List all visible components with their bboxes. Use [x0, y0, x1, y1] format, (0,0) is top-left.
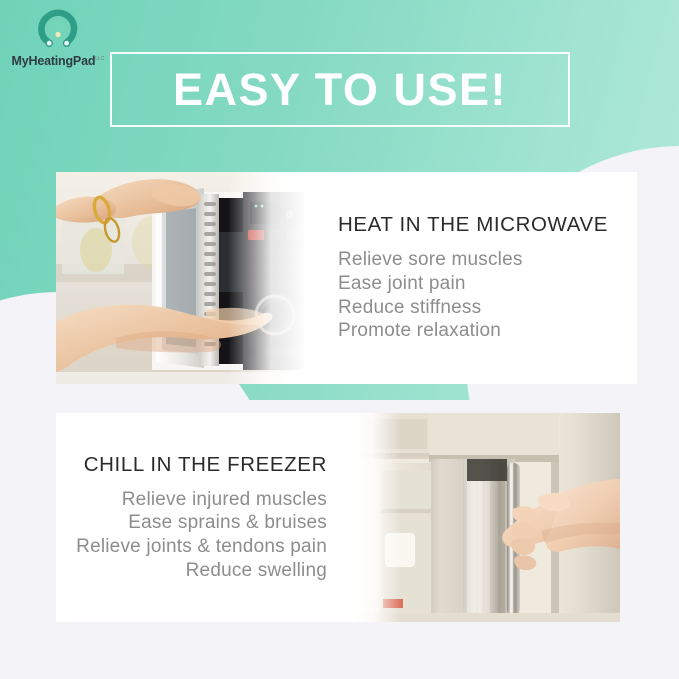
benefit-item: Relieve sore muscles [338, 248, 523, 272]
benefit-item: Promote relaxation [338, 319, 523, 343]
product-infographic: MyHeatingPadLLC EASY TO USE! [0, 0, 679, 679]
benefit-card-heat-title: HEAT IN THE MICROWAVE [338, 213, 608, 237]
benefit-item: Relieve joints & tendons pain [76, 535, 327, 559]
brand-logo: MyHeatingPadLLC [10, 8, 106, 72]
benefit-item: Reduce stiffness [338, 296, 523, 320]
benefit-item: Reduce swelling [76, 559, 327, 583]
page-title: EASY TO USE! [173, 67, 507, 112]
benefit-card-chill: CHILL IN THE FREEZER Relieve injured mus… [56, 413, 620, 622]
headline-banner: EASY TO USE! [110, 52, 570, 127]
microwave-photo: 0 [56, 172, 306, 384]
horseshoe-ring-logo-icon [36, 8, 80, 52]
brand-trademark: LLC [95, 56, 104, 62]
svg-text:0: 0 [286, 210, 293, 222]
benefit-item: Ease sprains & bruises [76, 511, 327, 535]
benefit-card-heat: 0 [56, 172, 637, 384]
benefit-card-heat-body: HEAT IN THE MICROWAVE Relieve sore muscl… [306, 172, 637, 384]
brand-wordmark: MyHeatingPadLLC [10, 54, 106, 68]
benefit-item: Ease joint pain [338, 272, 523, 296]
benefit-item: Relieve injured muscles [76, 488, 327, 512]
benefit-list-heat: Relieve sore muscles Ease joint pain Red… [338, 248, 523, 342]
freezer-photo [355, 413, 620, 622]
benefit-card-chill-body: CHILL IN THE FREEZER Relieve injured mus… [56, 413, 355, 622]
brand-name: MyHeatingPad [12, 54, 96, 68]
benefit-list-chill: Relieve injured muscles Ease sprains & b… [76, 488, 327, 582]
benefit-card-chill-title: CHILL IN THE FREEZER [84, 453, 327, 477]
